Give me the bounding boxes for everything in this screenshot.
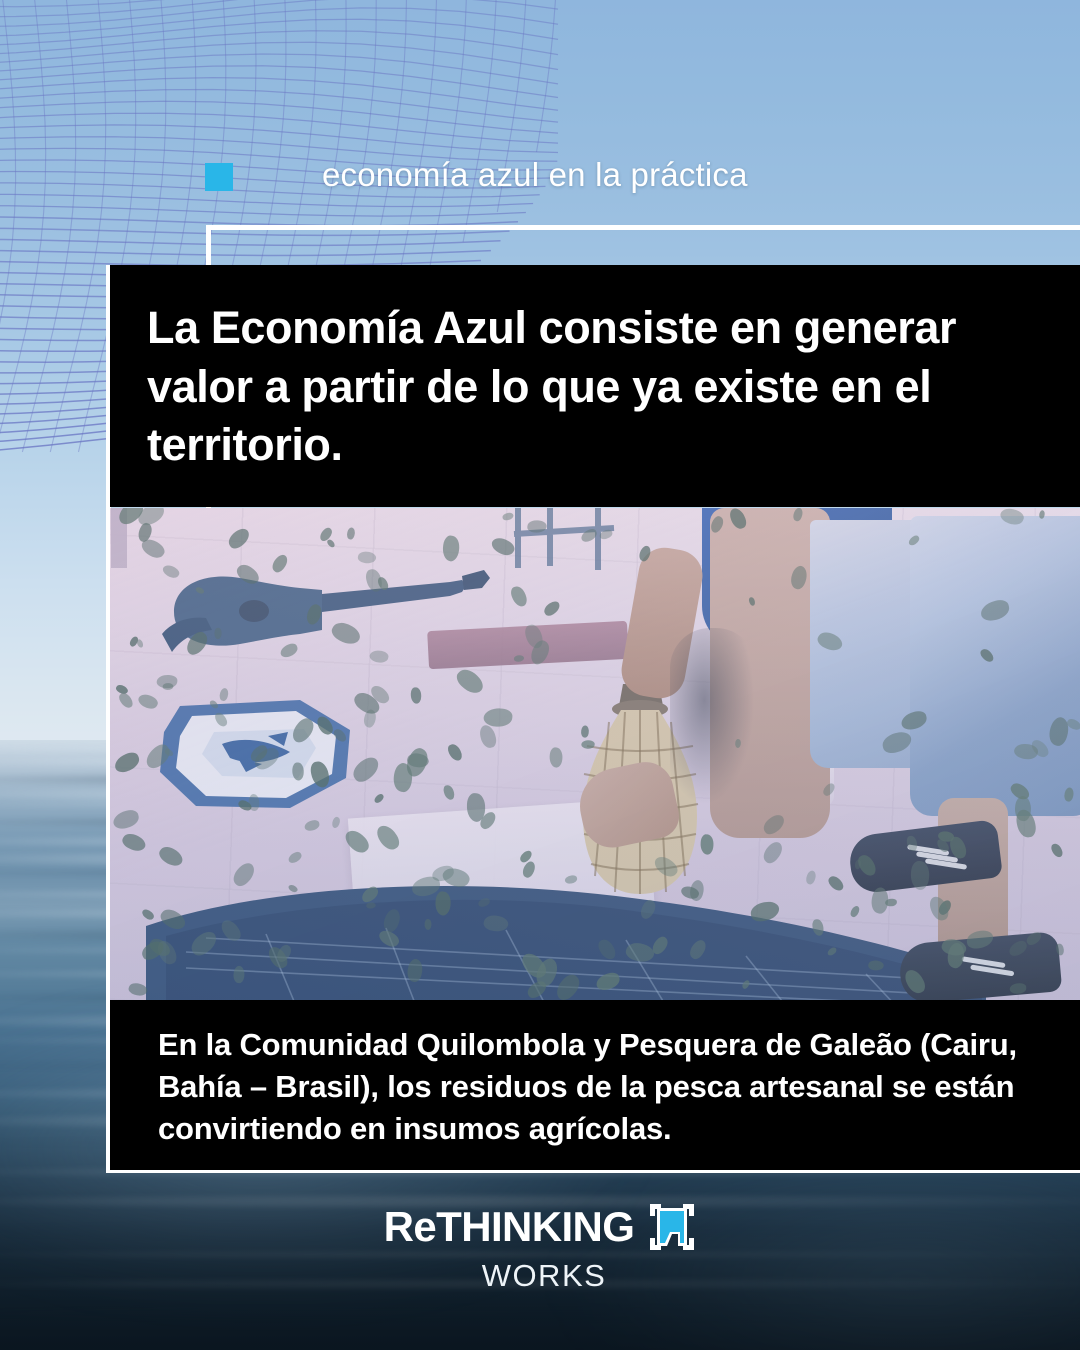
logo-word-prefix: Re [384,1203,437,1250]
brand-logo: ReTHINKING WORKS [0,1204,1080,1314]
headline-text: La Economía Azul consiste en generar val… [147,299,1036,475]
feature-photo [110,508,1080,1000]
caption-text: En la Comunidad Quilombola y Pesquera de… [158,1024,1040,1150]
eyebrow-label: economía azul en la práctica [322,152,1042,198]
caption-panel: En la Comunidad Quilombola y Pesquera de… [110,1000,1080,1170]
cyan-accent-square [205,163,233,191]
logo-primary-row: ReTHINKING [384,1204,697,1250]
social-post-canvas: economía azul en la práctica La Economía… [0,0,1080,1350]
logo-word-main: THINKING [436,1203,634,1250]
logo-subwordmark: WORKS [482,1260,607,1291]
logo-wordmark: ReTHINKING [384,1206,635,1248]
photo-cool-overlay [110,508,1080,1000]
rethinking-works-mark-icon [648,1204,696,1250]
photo-content [110,508,1080,1000]
headline-panel: La Economía Azul consiste en generar val… [110,265,1080,507]
